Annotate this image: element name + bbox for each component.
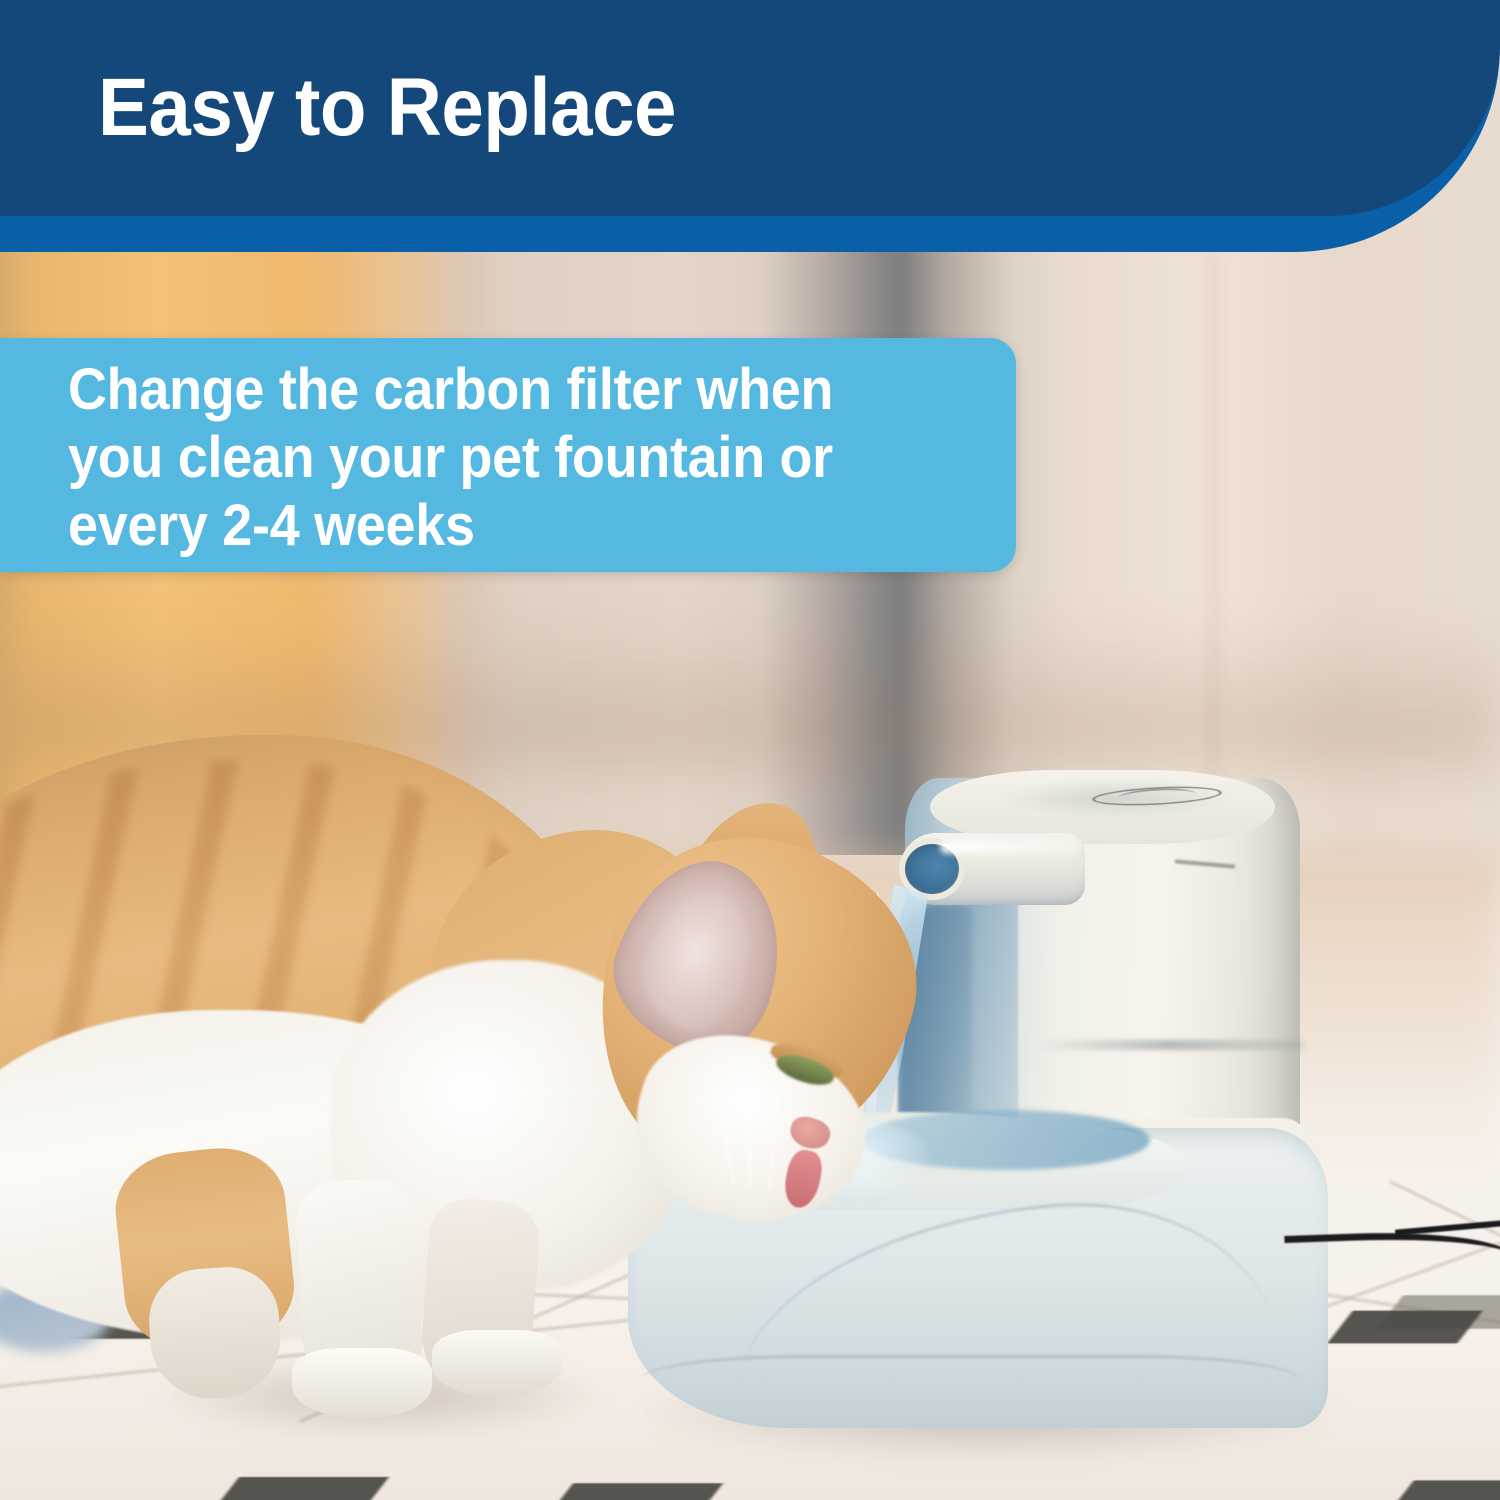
caption-box: Change the carbon filter when you clean … (0, 338, 1016, 572)
cat-second-paw (432, 1330, 562, 1396)
page-title: Easy to Replace (98, 60, 676, 156)
caption-text: Change the carbon filter when you clean … (68, 356, 933, 560)
product-feature-card: Easy to Replace Change the carbon filter… (0, 0, 1500, 1500)
cat-front-paw (292, 1348, 432, 1418)
header-banner: Easy to Replace (0, 0, 1500, 265)
